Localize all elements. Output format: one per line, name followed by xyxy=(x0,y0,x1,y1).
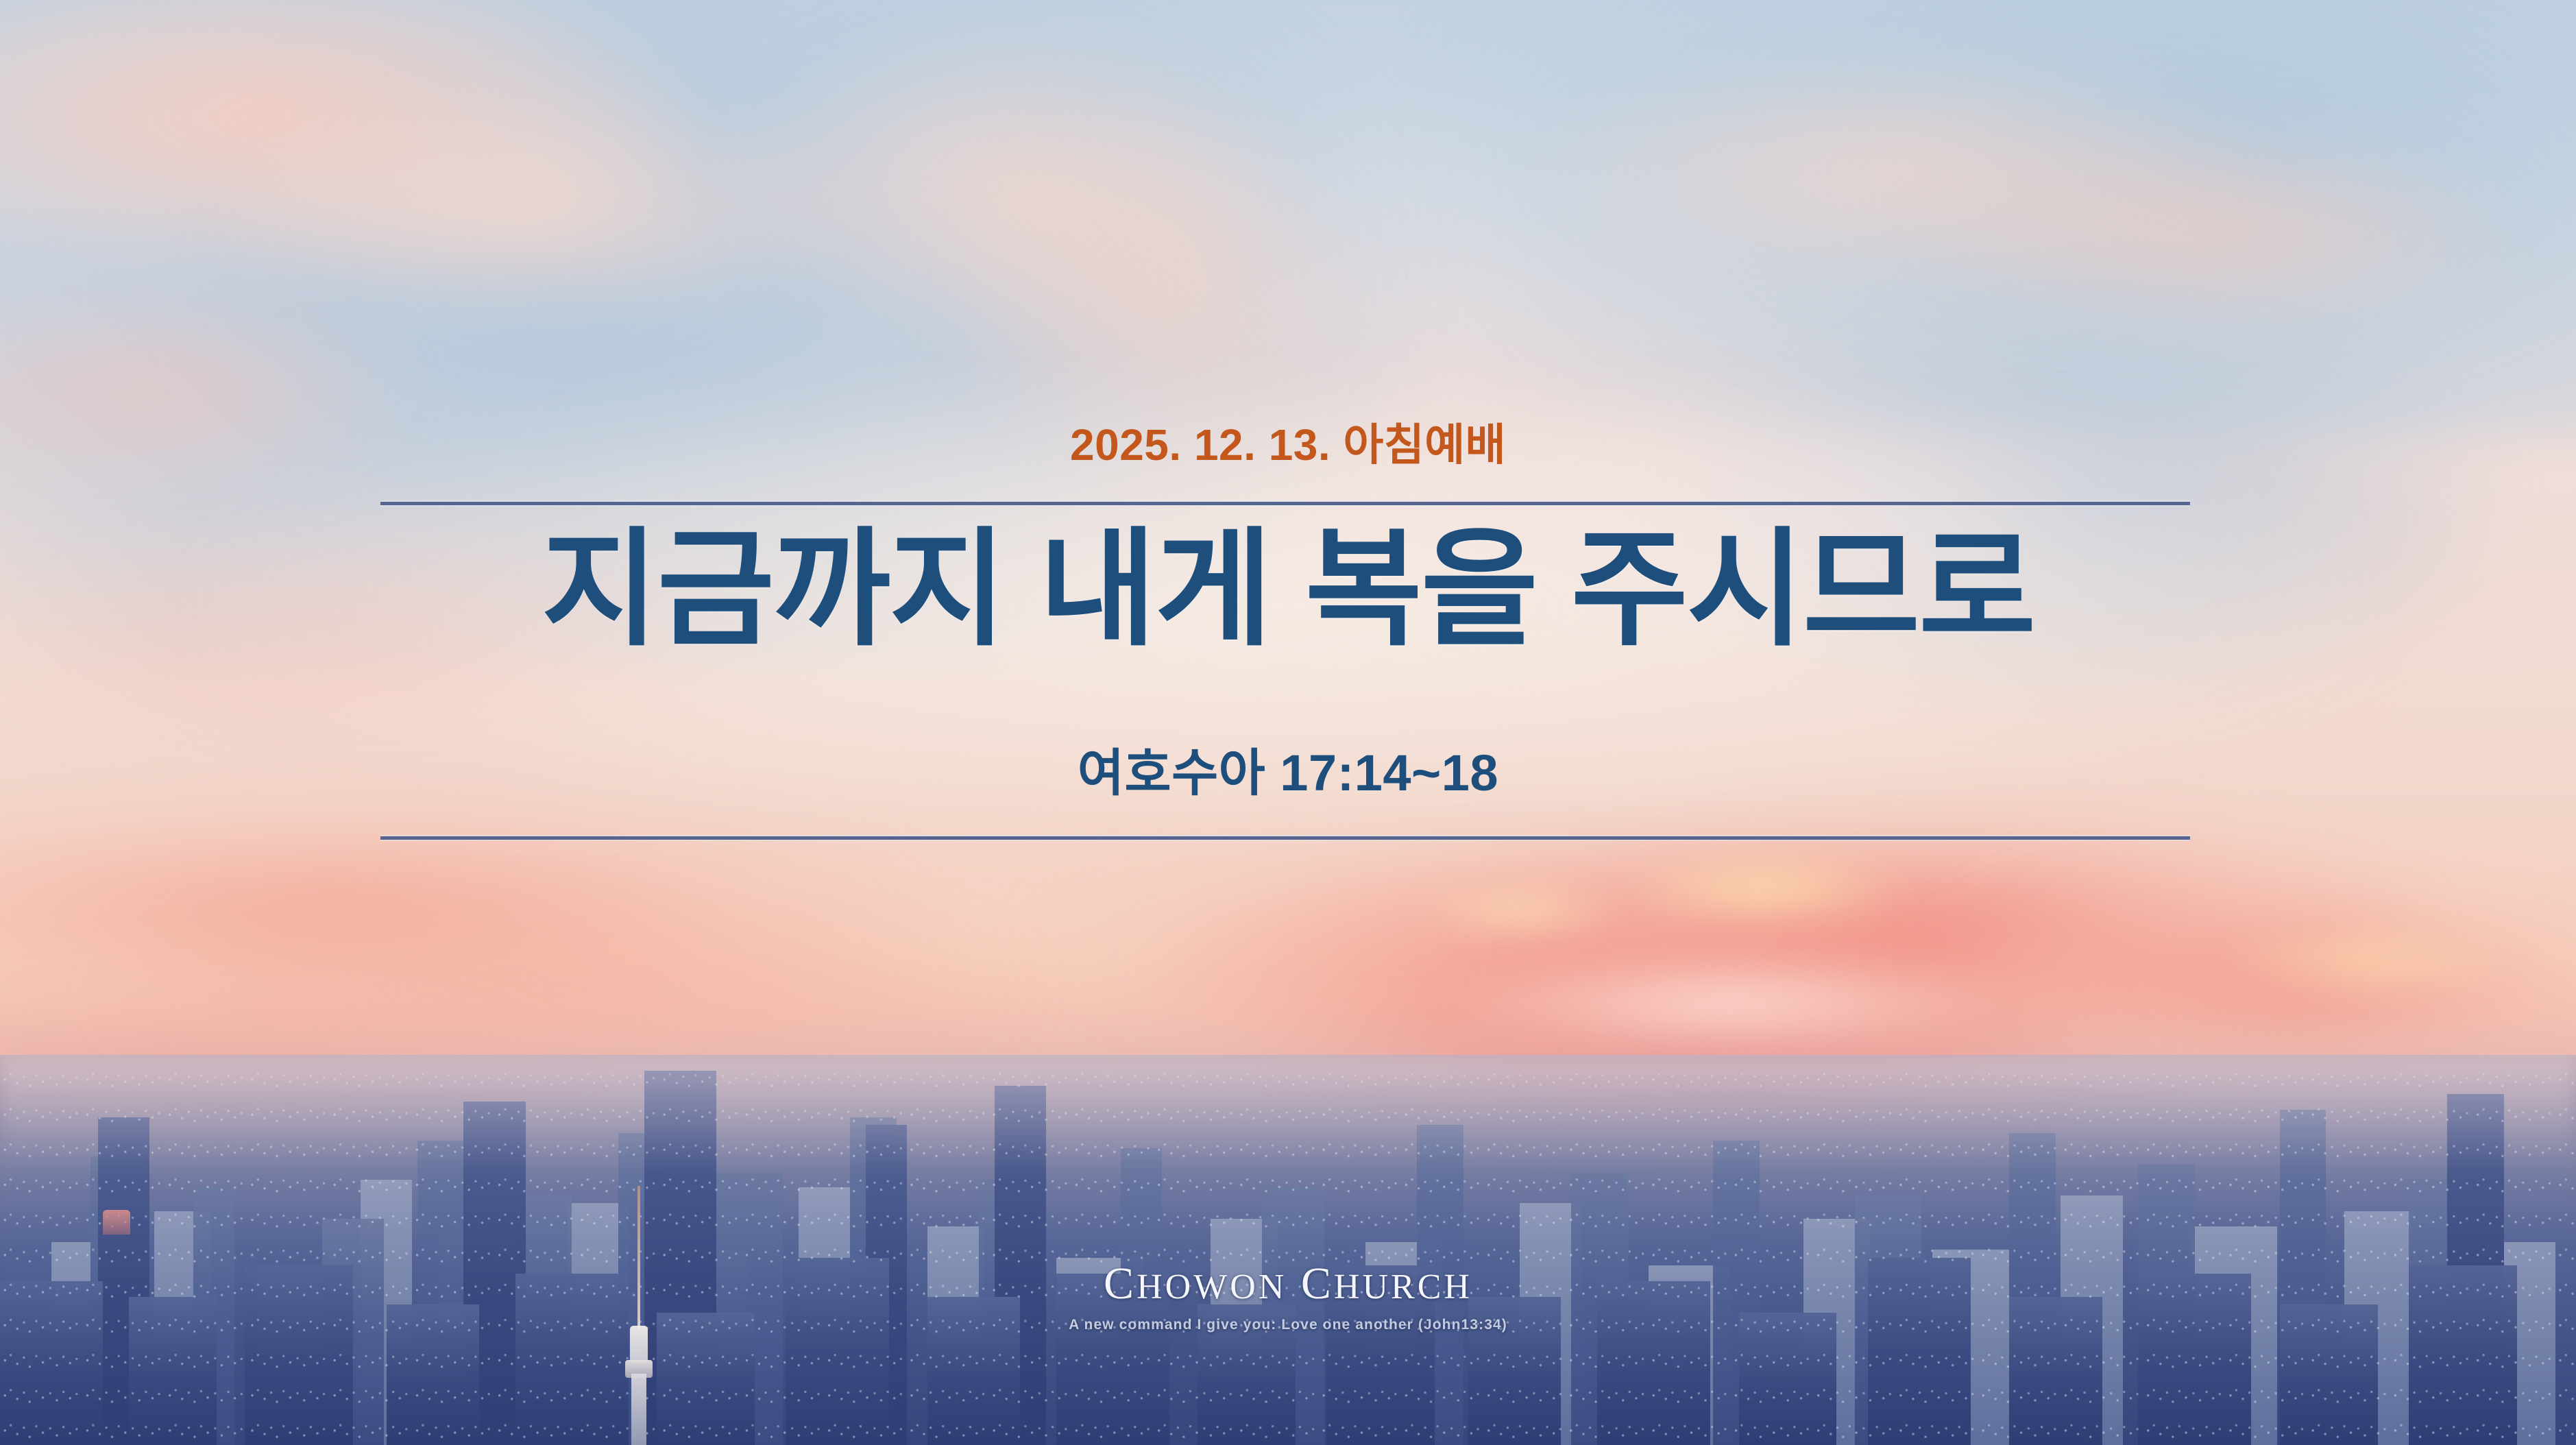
scripture-reference: 여호수아 17:14~18 xyxy=(0,732,2576,805)
church-logo: CHOWON CHURCH A new command I give you: … xyxy=(0,1260,2576,1333)
church-name-initial-1: C xyxy=(1104,1259,1137,1309)
church-name: CHOWON CHURCH xyxy=(0,1260,2576,1307)
divider-line-bottom xyxy=(380,835,2190,841)
church-name-space xyxy=(1287,1259,1301,1309)
church-name-initial-2: C xyxy=(1301,1259,1334,1309)
divider-line-top xyxy=(380,500,2190,507)
church-name-body-1: HOWON xyxy=(1137,1267,1287,1307)
sermon-title: 지금까지 내게 복을 주시므로 xyxy=(0,526,2576,654)
church-tagline: A new command I give you: Love one anoth… xyxy=(0,1317,2576,1333)
slide-canvas: 2025. 12. 13. 아침예배 지금까지 내게 복을 주시므로 여호수아 … xyxy=(0,0,2576,1445)
slide-content: 2025. 12. 13. 아침예배 지금까지 내게 복을 주시므로 여호수아 … xyxy=(0,0,2576,1445)
service-date-line: 2025. 12. 13. 아침예배 xyxy=(0,410,2576,473)
church-name-body-2: HURCH xyxy=(1334,1267,1472,1307)
